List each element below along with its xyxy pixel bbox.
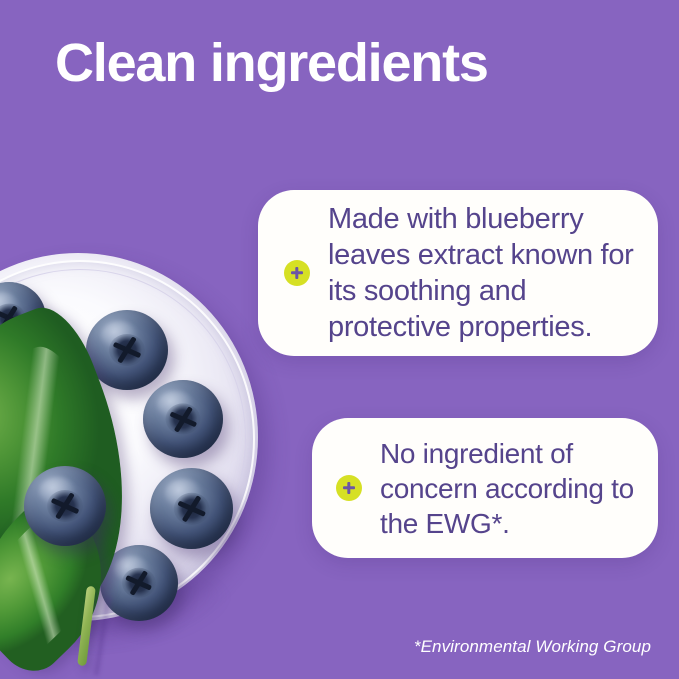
blueberry [143,380,223,458]
blueberry-crown [173,492,210,524]
plus-icon [336,475,362,501]
benefit-card-1-text: Made with blueberry leaves extract known… [328,201,636,345]
blueberry [24,466,106,546]
blueberry [150,468,233,549]
benefit-card-1: Made with blueberry leaves extract known… [258,190,658,356]
blueberry-crown [109,334,145,366]
blueberry-crown [47,490,83,522]
benefit-card-2-text: No ingredient of concern according to th… [380,436,638,541]
benefit-card-2: No ingredient of concern according to th… [312,418,658,558]
blueberry-petri-dish-photo [0,0,300,679]
blueberry-crown [165,403,200,434]
footnote: *Environmental Working Group [414,637,651,657]
plus-icon [284,260,310,286]
blueberry-crown [122,568,156,598]
page-title: Clean ingredients [55,32,488,94]
infographic-canvas: Clean ingredients Made with blueberry le… [0,0,679,679]
